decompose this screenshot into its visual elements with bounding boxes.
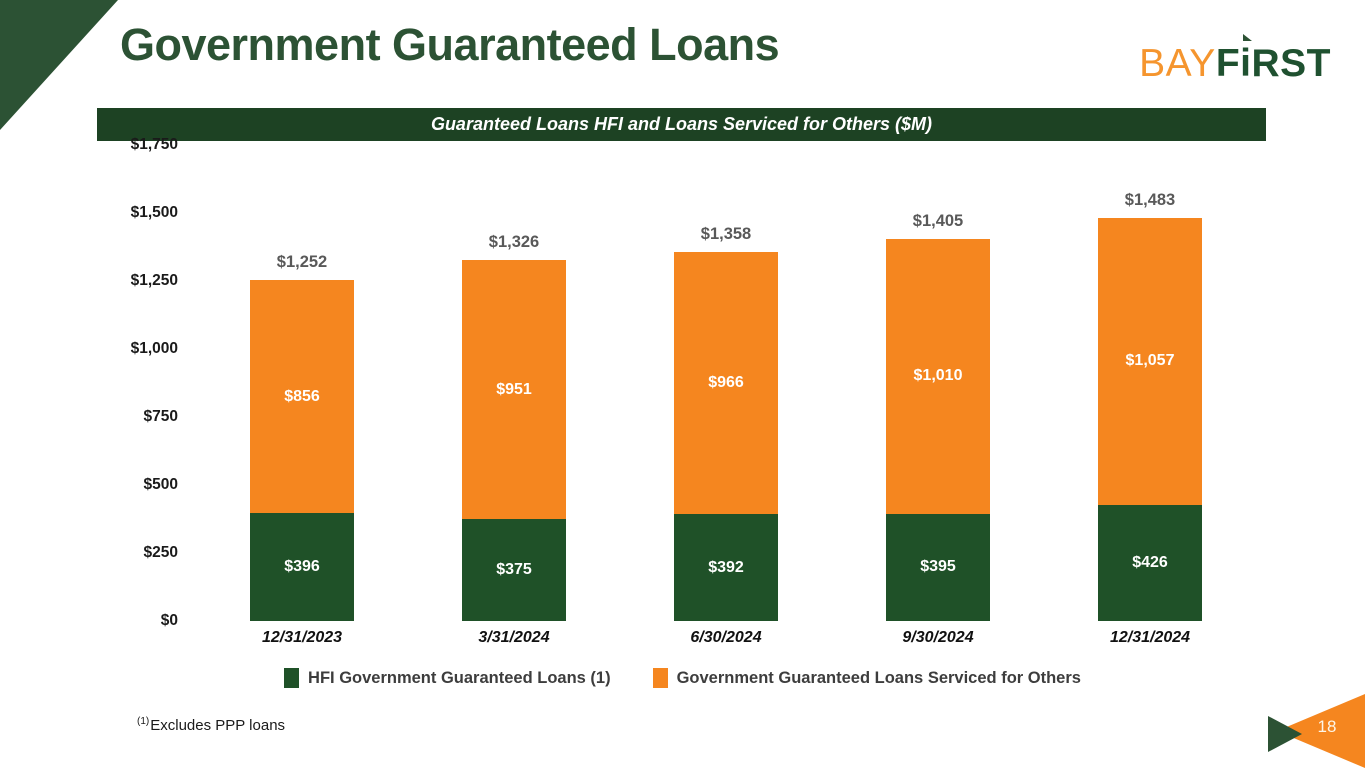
bayfirst-logo: BAYFiRST [1139,44,1331,83]
logo-text-first: FiRST [1216,42,1331,85]
chart-title: Guaranteed Loans HFI and Loans Serviced … [431,114,932,135]
bar-segment-label: $1,057 [1126,352,1175,370]
bar-segment-label: $375 [496,561,532,579]
bar-segment-label: $951 [496,381,532,399]
bar-segment-serviced[interactable]: $966 [674,252,778,515]
logo-text-bay: BAY [1139,42,1216,85]
y-axis-tick: $750 [144,408,178,426]
y-axis-tick: $250 [144,544,178,562]
page-title: Government Guaranteed Loans [120,20,779,70]
y-axis-tick: $0 [161,612,178,630]
footnote-marker: (1) [137,716,149,727]
legend-item[interactable]: Government Guaranteed Loans Serviced for… [653,668,1081,688]
page-number: 18 [1307,717,1347,737]
legend-item[interactable]: HFI Government Guaranteed Loans (1) [284,668,611,688]
y-axis-tick: $1,500 [131,204,178,222]
bar-total-label: $1,483 [1125,191,1175,210]
legend-label: Government Guaranteed Loans Serviced for… [677,669,1081,688]
bar-segment-hfi[interactable]: $396 [250,513,354,621]
bar-total-label: $1,358 [701,225,751,244]
bar-segment-serviced[interactable]: $1,057 [1098,218,1202,506]
bar-segment-serviced[interactable]: $1,010 [886,239,990,514]
stacked-bar[interactable]: $1,326$951$3753/31/2024 [462,260,566,621]
footnote-text: Excludes PPP loans [150,717,285,734]
bar-segment-serviced[interactable]: $951 [462,260,566,519]
y-axis-tick: $500 [144,476,178,494]
legend-label: HFI Government Guaranteed Loans (1) [308,669,611,688]
bar-series-container: $1,252$856$39612/31/2023$1,326$951$3753/… [196,145,1256,621]
bar-segment-label: $392 [708,559,744,577]
stacked-bar[interactable]: $1,483$1,057$42612/31/2024 [1098,218,1202,621]
x-axis-category-label: 12/31/2023 [262,629,342,647]
y-axis: $0$250$500$750$1,000$1,250$1,500$1,750 [100,145,178,621]
bar-segment-label: $426 [1132,554,1168,572]
page-number-badge: 18 [1250,694,1365,768]
y-axis-tick: $1,750 [131,136,178,154]
bar-total-label: $1,326 [489,233,539,252]
bar-group[interactable]: $1,326$951$3753/31/2024 [462,260,566,621]
x-axis-category-label: 12/31/2024 [1110,629,1190,647]
bar-group[interactable]: $1,483$1,057$42612/31/2024 [1098,218,1202,621]
bar-segment-label: $396 [284,558,320,576]
chart-header-bar: Guaranteed Loans HFI and Loans Serviced … [97,108,1266,141]
stacked-bar[interactable]: $1,358$966$3926/30/2024 [674,252,778,621]
slide-canvas: Government Guaranteed Loans BAYFiRST Gua… [0,0,1365,768]
bar-segment-label: $856 [284,388,320,406]
x-axis-category-label: 3/31/2024 [478,629,549,647]
stacked-bar[interactable]: $1,252$856$39612/31/2023 [250,280,354,621]
y-axis-tick: $1,000 [131,340,178,358]
footnote: (1)Excludes PPP loans [137,716,285,734]
stacked-bar[interactable]: $1,405$1,010$3959/30/2024 [886,239,990,621]
y-axis-tick: $1,250 [131,272,178,290]
legend-swatch-icon [653,668,668,688]
chart-legend: HFI Government Guaranteed Loans (1)Gover… [0,668,1365,688]
bar-segment-hfi[interactable]: $375 [462,519,566,621]
play-triangle-icon [1243,34,1252,41]
bar-segment-hfi[interactable]: $392 [674,514,778,621]
bar-segment-hfi[interactable]: $426 [1098,505,1202,621]
bar-segment-serviced[interactable]: $856 [250,280,354,513]
green-triangle-icon [1268,716,1302,752]
x-axis-category-label: 6/30/2024 [690,629,761,647]
legend-swatch-icon [284,668,299,688]
bar-segment-label: $395 [920,558,956,576]
logo-first-label: FiRST [1216,42,1331,85]
bar-total-label: $1,405 [913,212,963,231]
bar-segment-label: $1,010 [914,367,963,385]
bar-group[interactable]: $1,252$856$39612/31/2023 [250,280,354,621]
bar-segment-label: $966 [708,374,744,392]
x-axis-category-label: 9/30/2024 [902,629,973,647]
chart-plot-area: $0$250$500$750$1,000$1,250$1,500$1,750 $… [0,145,1365,635]
bar-total-label: $1,252 [277,253,327,272]
bar-group[interactable]: $1,405$1,010$3959/30/2024 [886,239,990,621]
bar-segment-hfi[interactable]: $395 [886,514,990,621]
bar-group[interactable]: $1,358$966$3926/30/2024 [674,252,778,621]
